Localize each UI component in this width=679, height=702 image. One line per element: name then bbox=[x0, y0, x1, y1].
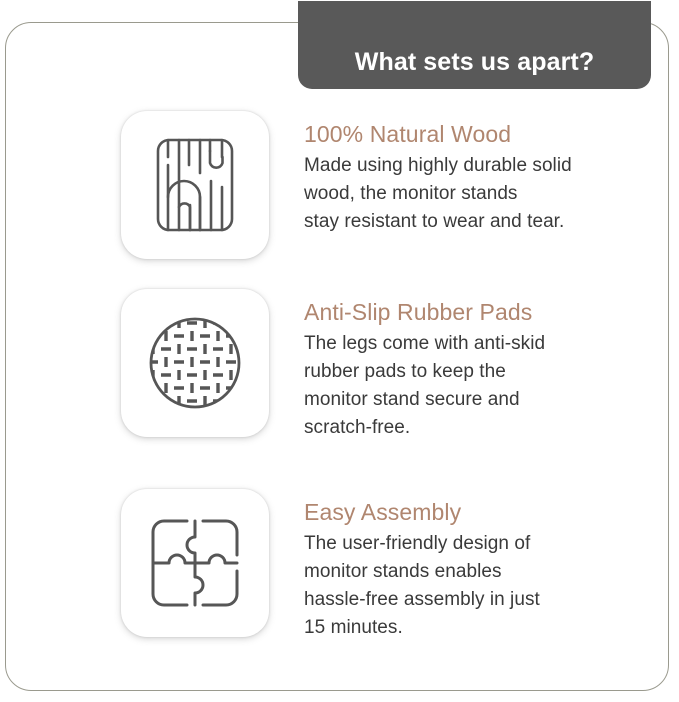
puzzle-pieces-icon bbox=[147, 515, 243, 611]
feature-text: 100% Natural Wood Made using highly dura… bbox=[304, 111, 634, 236]
wood-grain-icon bbox=[152, 135, 238, 235]
feature-heading: Anti-Slip Rubber Pads bbox=[304, 299, 634, 325]
feature-text: Anti-Slip Rubber Pads The legs come with… bbox=[304, 289, 634, 441]
feature-card: What sets us apart? bbox=[5, 22, 669, 691]
feature-icon-tile bbox=[121, 289, 269, 437]
feature-body: The user-friendly design of monitor stan… bbox=[304, 530, 634, 641]
feature-item: Easy Assembly The user-friendly design o… bbox=[6, 489, 670, 641]
rubber-pad-weave-icon bbox=[145, 313, 245, 413]
feature-heading: Easy Assembly bbox=[304, 499, 634, 525]
feature-icon-tile bbox=[121, 489, 269, 637]
feature-heading: 100% Natural Wood bbox=[304, 121, 634, 147]
page-title: What sets us apart? bbox=[355, 50, 594, 75]
feature-item: 100% Natural Wood Made using highly dura… bbox=[6, 111, 670, 259]
header-banner: What sets us apart? bbox=[298, 1, 651, 89]
feature-body: Made using highly durable solid wood, th… bbox=[304, 152, 634, 235]
feature-item: Anti-Slip Rubber Pads The legs come with… bbox=[6, 289, 670, 441]
feature-icon-tile bbox=[121, 111, 269, 259]
feature-body: The legs come with anti-skid rubber pads… bbox=[304, 330, 634, 441]
feature-text: Easy Assembly The user-friendly design o… bbox=[304, 489, 634, 641]
